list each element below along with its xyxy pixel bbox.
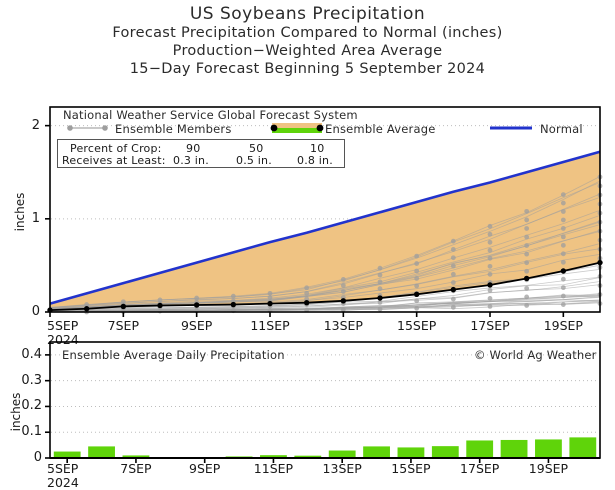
lower-xtick-2: 9SEP [175, 461, 235, 476]
lower-ytick-3: 0.3 [8, 373, 42, 388]
lower-xtick-3: 11SEP [243, 461, 303, 476]
lower-panel-caption: Ensemble Average Daily Precipitation [62, 348, 285, 362]
lower-ytick-0: 0 [8, 450, 42, 465]
lower-xtick-6: 17SEP [450, 461, 510, 476]
lower-xtick-4: 13SEP [312, 461, 372, 476]
lower-ytick-2: 0.2 [8, 398, 42, 413]
lower-xtick-5: 15SEP [381, 461, 441, 476]
lower-ytick-4: 0.4 [8, 347, 42, 362]
lower-ytick-1: 0.1 [8, 424, 42, 439]
copyright-notice: © World Ag Weather [474, 348, 597, 362]
lower-xtick-0: 5SEP [47, 461, 107, 476]
lower-x-year-label: 2024 [47, 475, 79, 490]
chart-page: US Soybeans Precipitation Forecast Preci… [0, 0, 615, 485]
daily-precipitation-chart [0, 0, 615, 485]
lower-xtick-1: 7SEP [106, 461, 166, 476]
lower-xtick-7: 19SEP [518, 461, 578, 476]
